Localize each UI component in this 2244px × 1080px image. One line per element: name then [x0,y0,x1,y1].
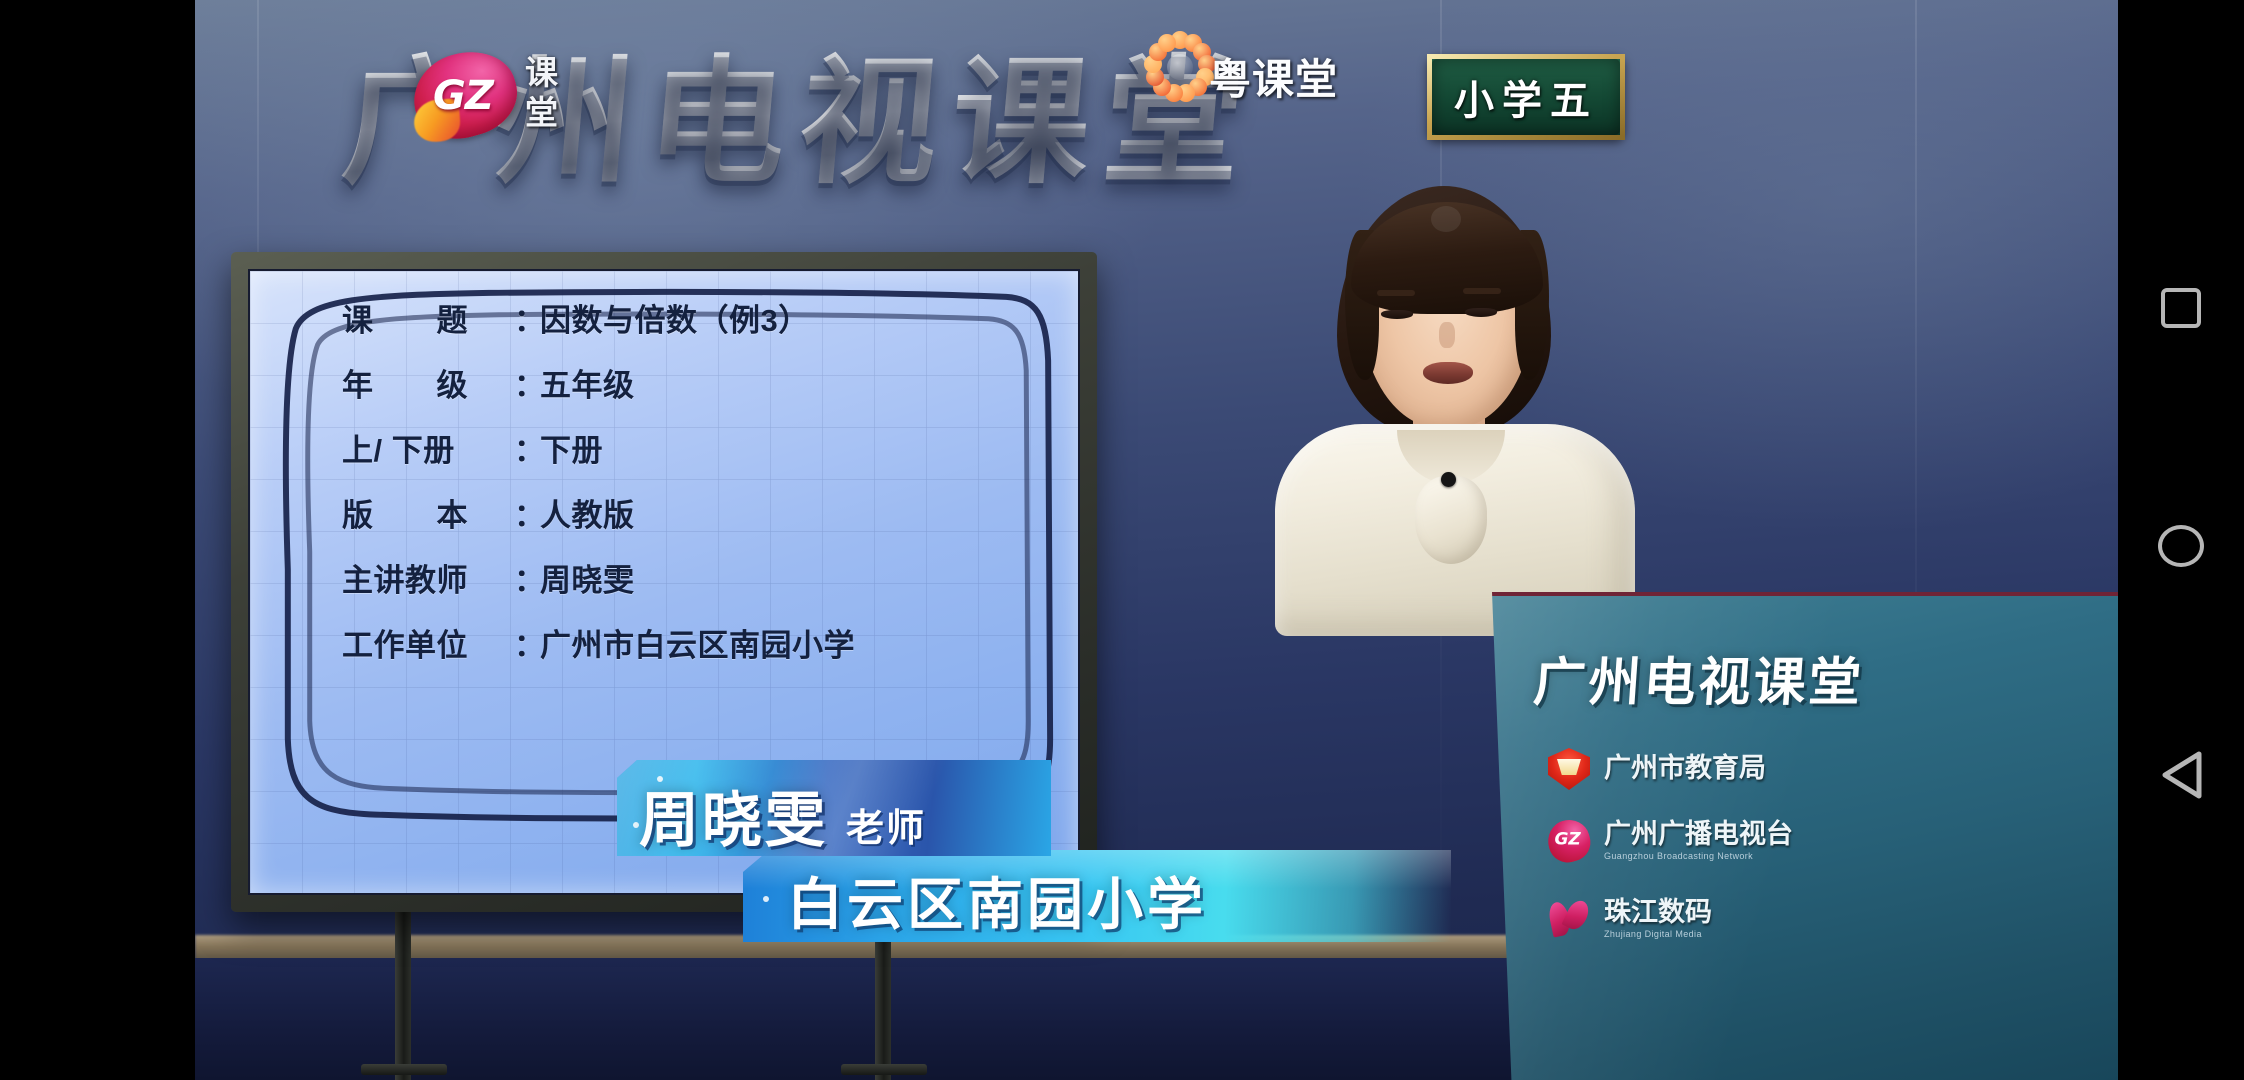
eye-left [1381,310,1413,319]
eyebrow-right [1463,288,1501,294]
grade-badge: 小学五 [1427,54,1625,140]
letterbox-left [0,0,195,1080]
video-player-surface[interactable]: 广州电视课堂 GZ 课堂 粤课堂 小学五 [195,0,2118,1080]
flower-petal [1158,34,1176,52]
phone-screen: 广州电视课堂 GZ 课堂 粤课堂 小学五 [0,0,2244,1080]
whiteboard-value: 周晓雯 [540,555,635,600]
gz-channel-logo: GZ 课堂 [413,45,608,145]
whiteboard-label: 版 本 [342,490,514,535]
whiteboard-text-block: 课 题 ： 因数与倍数（例3） 年 级 ： 五年级 上/ 下册 ： 下册 [342,295,1032,685]
podium: 广州电视课堂 广州市教育局 广州广播电视台 Guangzhou Broadcas… [1492,592,2118,1080]
whiteboard-label: 课 题 [342,295,514,340]
grade-badge-label: 小学五 [1454,79,1598,123]
whiteboard-colon: ： [514,295,540,340]
nose [1439,322,1455,348]
whiteboard-value: 五年级 [540,360,635,405]
whiteboard-label: 主讲教师 [342,555,514,600]
whiteboard-colon: ： [514,360,540,405]
whiteboard-label: 年 级 [342,360,514,405]
sponsor-subtitle: Guangzhou Broadcasting Network [1604,851,1793,861]
podium-title: 广州电视课堂 [1531,640,1866,715]
gz-broadcast-logo-icon [1543,815,1595,867]
whiteboard-leg [395,905,411,1080]
sponsor-row: 珠江数码 Zhujiang Digital Media [1548,898,1712,940]
bow-tie [1415,476,1487,564]
whiteboard-label: 上/ 下册 [342,425,514,470]
zhujiang-digital-logo-icon [1548,898,1590,940]
whiteboard-row: 工作单位 ： 广州市白云区南园小学 [342,620,1032,665]
sponsor-subtitle: Zhujiang Digital Media [1604,929,1712,939]
whiteboard-value: 广州市白云区南园小学 [540,620,855,665]
whiteboard-row: 上/ 下册 ： 下册 [342,425,1032,470]
whiteboard-row: 年 级 ： 五年级 [342,360,1032,405]
gz-ketang-label: 课堂 [525,53,581,133]
lapel-microphone-icon [1441,472,1456,487]
whiteboard-row: 版 本 ： 人教版 [342,490,1032,535]
education-bureau-emblem-icon [1548,748,1590,790]
whiteboard-colon: ： [514,555,540,600]
yueketang-logo: 粤课堂 [1143,28,1403,120]
whiteboard-colon: ： [514,490,540,535]
flower-ring-icon [1143,30,1217,104]
sponsor-name: 广州市教育局 [1604,755,1766,783]
sponsor-name: 珠江数码 [1604,899,1712,927]
gz-letters: GZ [433,73,493,119]
whiteboard-value: 下册 [540,425,603,470]
mouth [1423,362,1473,384]
teacher-presenter [1265,186,1645,626]
whiteboard-row: 课 题 ： 因数与倍数（例3） [342,295,1032,340]
teacher-name: 周晓雯 [639,772,828,859]
recents-square-icon[interactable] [2161,288,2201,328]
android-navigation-bar [2118,0,2244,1080]
sponsor-row: 广州市教育局 [1548,748,1766,790]
whiteboard-label: 工作单位 [342,620,514,665]
whiteboard-value: 因数与倍数（例3） [540,295,810,340]
sponsor-row: 广州广播电视台 Guangzhou Broadcasting Network [1548,820,1793,862]
eye-right [1465,308,1497,317]
teacher-role: 老师 [846,797,926,852]
whiteboard-row: 主讲教师 ： 周晓雯 [342,555,1032,600]
flower-core [1167,54,1193,80]
lower-third-school-banner: 白云区南园小学 [743,850,1451,942]
whiteboard-colon: ： [514,425,540,470]
sponsor-name: 广州广播电视台 [1604,821,1793,849]
home-circle-icon[interactable] [2158,525,2204,567]
school-name: 白云区南园小学 [787,873,1207,938]
whiteboard-colon: ： [514,620,540,665]
lower-third-name-banner: 周晓雯 老师 [617,760,1051,856]
yueketang-label: 粤课堂 [1209,46,1338,107]
eyebrow-left [1377,290,1415,296]
whiteboard-value: 人教版 [540,490,635,535]
whiteboard-foot [361,1064,447,1075]
whiteboard-foot [841,1064,927,1075]
back-triangle-icon[interactable] [2163,750,2199,800]
